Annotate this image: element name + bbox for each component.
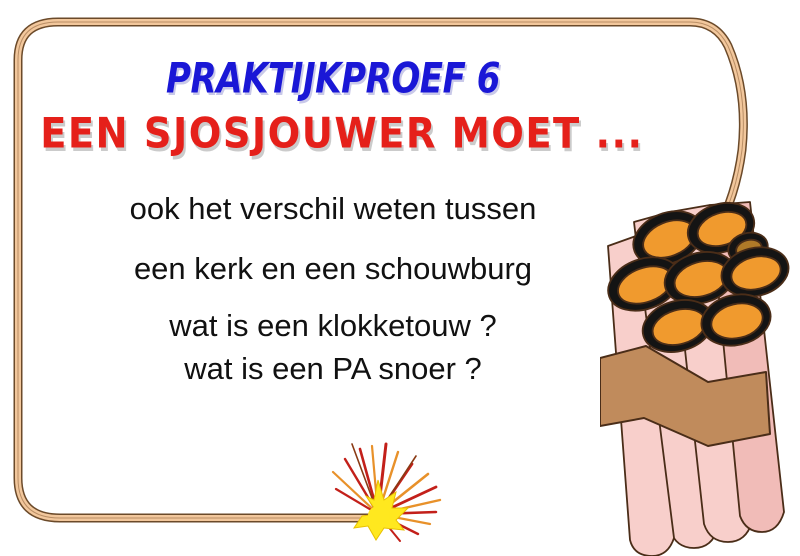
body-line-1: ook het verschil weten tussen: [28, 193, 638, 224]
poster-canvas: PRAKTIJKPROEF 6 EEN SJOSJOUWER MOET ... …: [0, 0, 800, 556]
poster-text-block: PRAKTIJKPROEF 6 EEN SJOSJOUWER MOET ... …: [28, 58, 638, 384]
page-title: PRAKTIJKPROEF 6: [52, 58, 613, 99]
body-line-3: wat is een klokketouw ?: [28, 310, 638, 341]
dynamite-stick-back-left: [634, 212, 718, 548]
dynamite-stick-back-center: [670, 205, 752, 542]
dynamite-stick-back-right: [710, 202, 784, 532]
body-line-4: wat is een PA snoer ?: [28, 353, 638, 384]
burning-spark: [333, 444, 440, 541]
body-line-2: een kerk en een schouwburg: [28, 253, 638, 284]
poster-subtitle: EEN SJOSJOUWER MOET ...: [40, 113, 626, 155]
